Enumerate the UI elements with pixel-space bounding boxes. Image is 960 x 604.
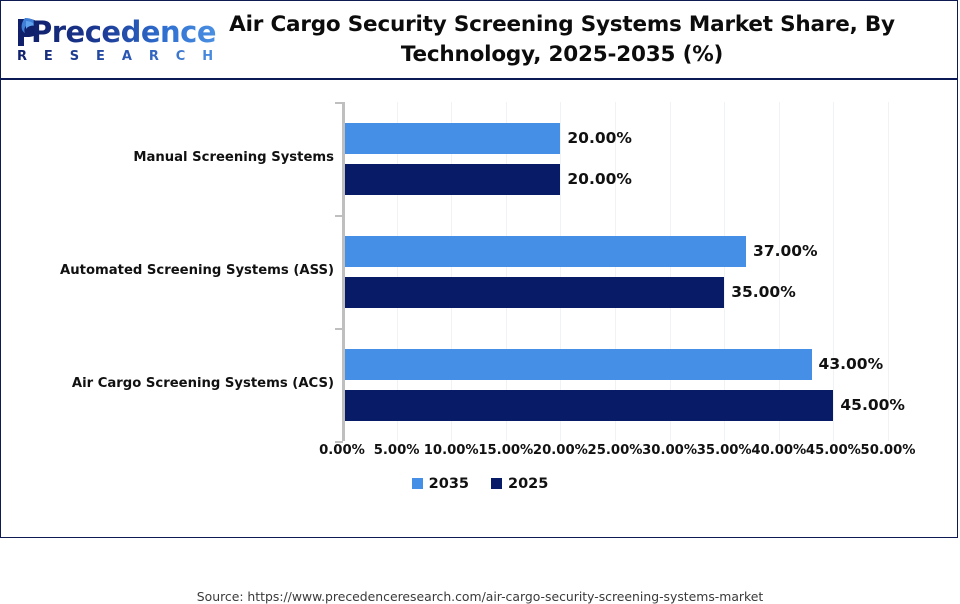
- x-axis-tick-label: 30.00%: [642, 443, 697, 458]
- chart-legend: 20352025: [1, 475, 959, 493]
- x-axis-tick-label: 45.00%: [806, 443, 861, 458]
- chart-card: Precedence R E S E A R C H Air Cargo Sec…: [0, 0, 958, 538]
- bar-value-label: 20.00%: [560, 164, 632, 195]
- category-labels: Manual Screening SystemsAutomated Screen…: [1, 102, 334, 441]
- bar-value-label: 20.00%: [560, 123, 632, 154]
- bar-value-label: 43.00%: [812, 349, 884, 380]
- y-axis-line: [342, 102, 345, 441]
- x-axis-tick-labels: 0.00%5.00%10.00%15.00%20.00%25.00%30.00%…: [1, 443, 959, 465]
- legend-swatch-icon: [491, 478, 502, 489]
- bar-value-label: 45.00%: [833, 390, 905, 421]
- bar-2025-3: [342, 390, 833, 421]
- bar-2035-3: [342, 349, 812, 380]
- bar-2025-2: [342, 277, 724, 308]
- category-label-1: Manual Screening Systems: [14, 150, 334, 165]
- legend-label: 2025: [508, 476, 548, 492]
- logo-wordmark: Precedence: [31, 15, 216, 49]
- y-axis-tick: [335, 102, 343, 104]
- x-axis-tick-label: 10.00%: [424, 443, 479, 458]
- source-caption: Source: https://www.precedenceresearch.c…: [1, 589, 959, 604]
- x-axis-tick-label: 0.00%: [319, 443, 365, 458]
- legend-label: 2035: [429, 476, 469, 492]
- legend-item-2025[interactable]: 2025: [491, 475, 548, 493]
- x-axis-tick-label: 25.00%: [588, 443, 643, 458]
- plot-area: 20.00%20.00%37.00%35.00%43.00%45.00%: [342, 102, 888, 441]
- chart-header: Precedence R E S E A R C H Air Cargo Sec…: [1, 1, 957, 80]
- category-label-2: Automated Screening Systems (ASS): [14, 263, 334, 278]
- x-axis-tick-label: 50.00%: [861, 443, 916, 458]
- category-label-3: Air Cargo Screening Systems (ACS): [14, 376, 334, 391]
- legend-swatch-icon: [412, 478, 423, 489]
- legend-item-2035[interactable]: 2035: [412, 475, 469, 493]
- y-axis-tick: [335, 328, 343, 330]
- x-axis-tick-label: 20.00%: [533, 443, 588, 458]
- x-axis-tick-label: 15.00%: [478, 443, 533, 458]
- x-axis-tick-label: 35.00%: [697, 443, 752, 458]
- bar-2035-1: [342, 123, 560, 154]
- precedence-research-logo: Precedence R E S E A R C H: [15, 15, 183, 67]
- y-axis-tick: [335, 215, 343, 217]
- x-axis-tick-label: 40.00%: [751, 443, 806, 458]
- chart-body: 20.00%20.00%37.00%35.00%43.00%45.00% Man…: [1, 80, 959, 537]
- x-axis-tick-label: 5.00%: [374, 443, 420, 458]
- bar-value-label: 37.00%: [746, 236, 818, 267]
- logo-subtitle: R E S E A R C H: [17, 49, 219, 64]
- bar-value-label: 35.00%: [724, 277, 796, 308]
- bar-2035-2: [342, 236, 746, 267]
- page-title: Air Cargo Security Screening Systems Mar…: [197, 10, 927, 70]
- bar-2025-1: [342, 164, 560, 195]
